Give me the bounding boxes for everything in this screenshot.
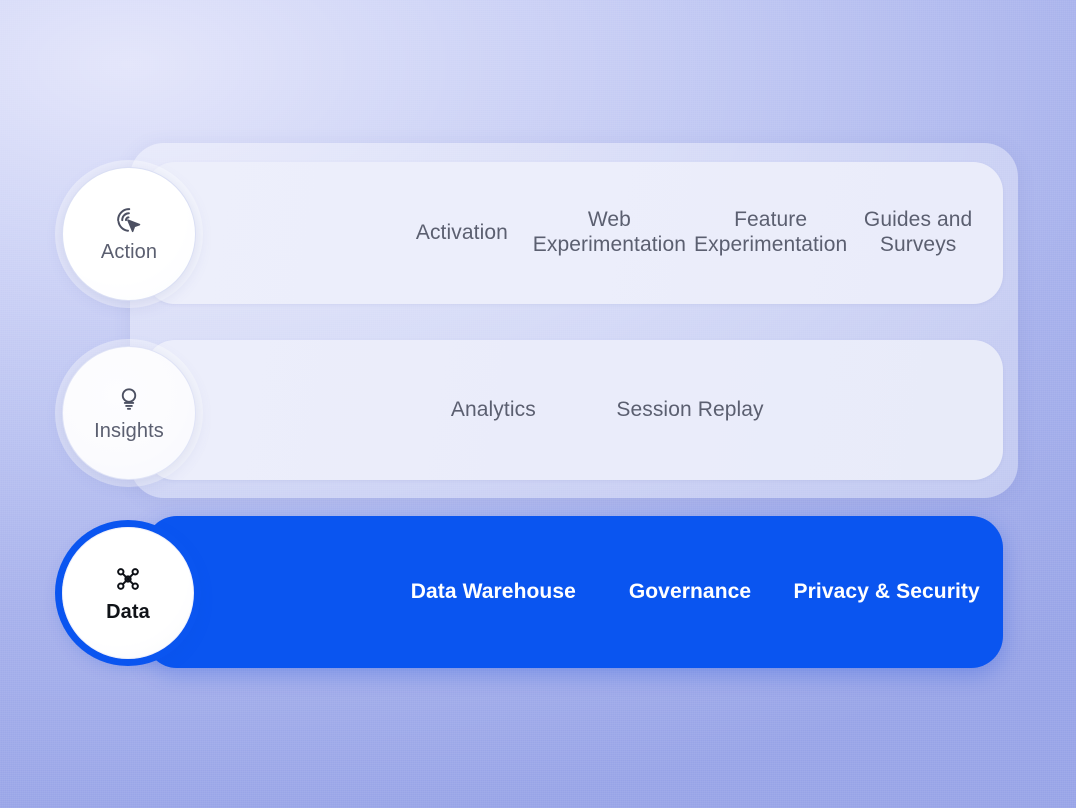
- layer-items-data: Data Warehouse Governance Privacy & Secu…: [395, 516, 985, 668]
- layer-items-insights: Analytics Session Replay: [395, 340, 985, 480]
- layer-item-web-experimentation[interactable]: Web Experimentation: [529, 208, 690, 258]
- layer-row-action[interactable]: Activation Web Experimentation Feature E…: [145, 162, 1003, 304]
- network-nodes-icon: [112, 563, 144, 595]
- layer-item-privacy-and-security[interactable]: Privacy & Security: [788, 580, 985, 605]
- layer-badge-label-data: Data: [106, 601, 150, 624]
- layer-badge-data[interactable]: Data: [62, 527, 194, 659]
- cursor-click-icon: [114, 205, 144, 235]
- layer-item-guides-and-surveys[interactable]: Guides and Surveys: [851, 208, 985, 258]
- layer-badge-action[interactable]: Action: [62, 167, 196, 301]
- layer-item-feature-experimentation[interactable]: Feature Experimentation: [690, 208, 851, 258]
- layer-badge-label-action: Action: [101, 241, 157, 264]
- layer-items-action: Activation Web Experimentation Feature E…: [395, 162, 985, 304]
- layer-item-data-warehouse[interactable]: Data Warehouse: [395, 580, 592, 605]
- layer-item-activation[interactable]: Activation: [395, 221, 529, 246]
- layer-badge-insights[interactable]: Insights: [62, 346, 196, 480]
- layer-row-insights[interactable]: Analytics Session Replay: [145, 340, 1003, 480]
- layer-badge-label-insights: Insights: [94, 420, 164, 443]
- layer-item-session-replay[interactable]: Session Replay: [592, 398, 789, 423]
- layer-row-data[interactable]: Data Warehouse Governance Privacy & Secu…: [145, 516, 1003, 668]
- lightbulb-icon: [114, 384, 144, 414]
- layer-item-governance[interactable]: Governance: [592, 580, 789, 605]
- layer-item-analytics[interactable]: Analytics: [395, 398, 592, 423]
